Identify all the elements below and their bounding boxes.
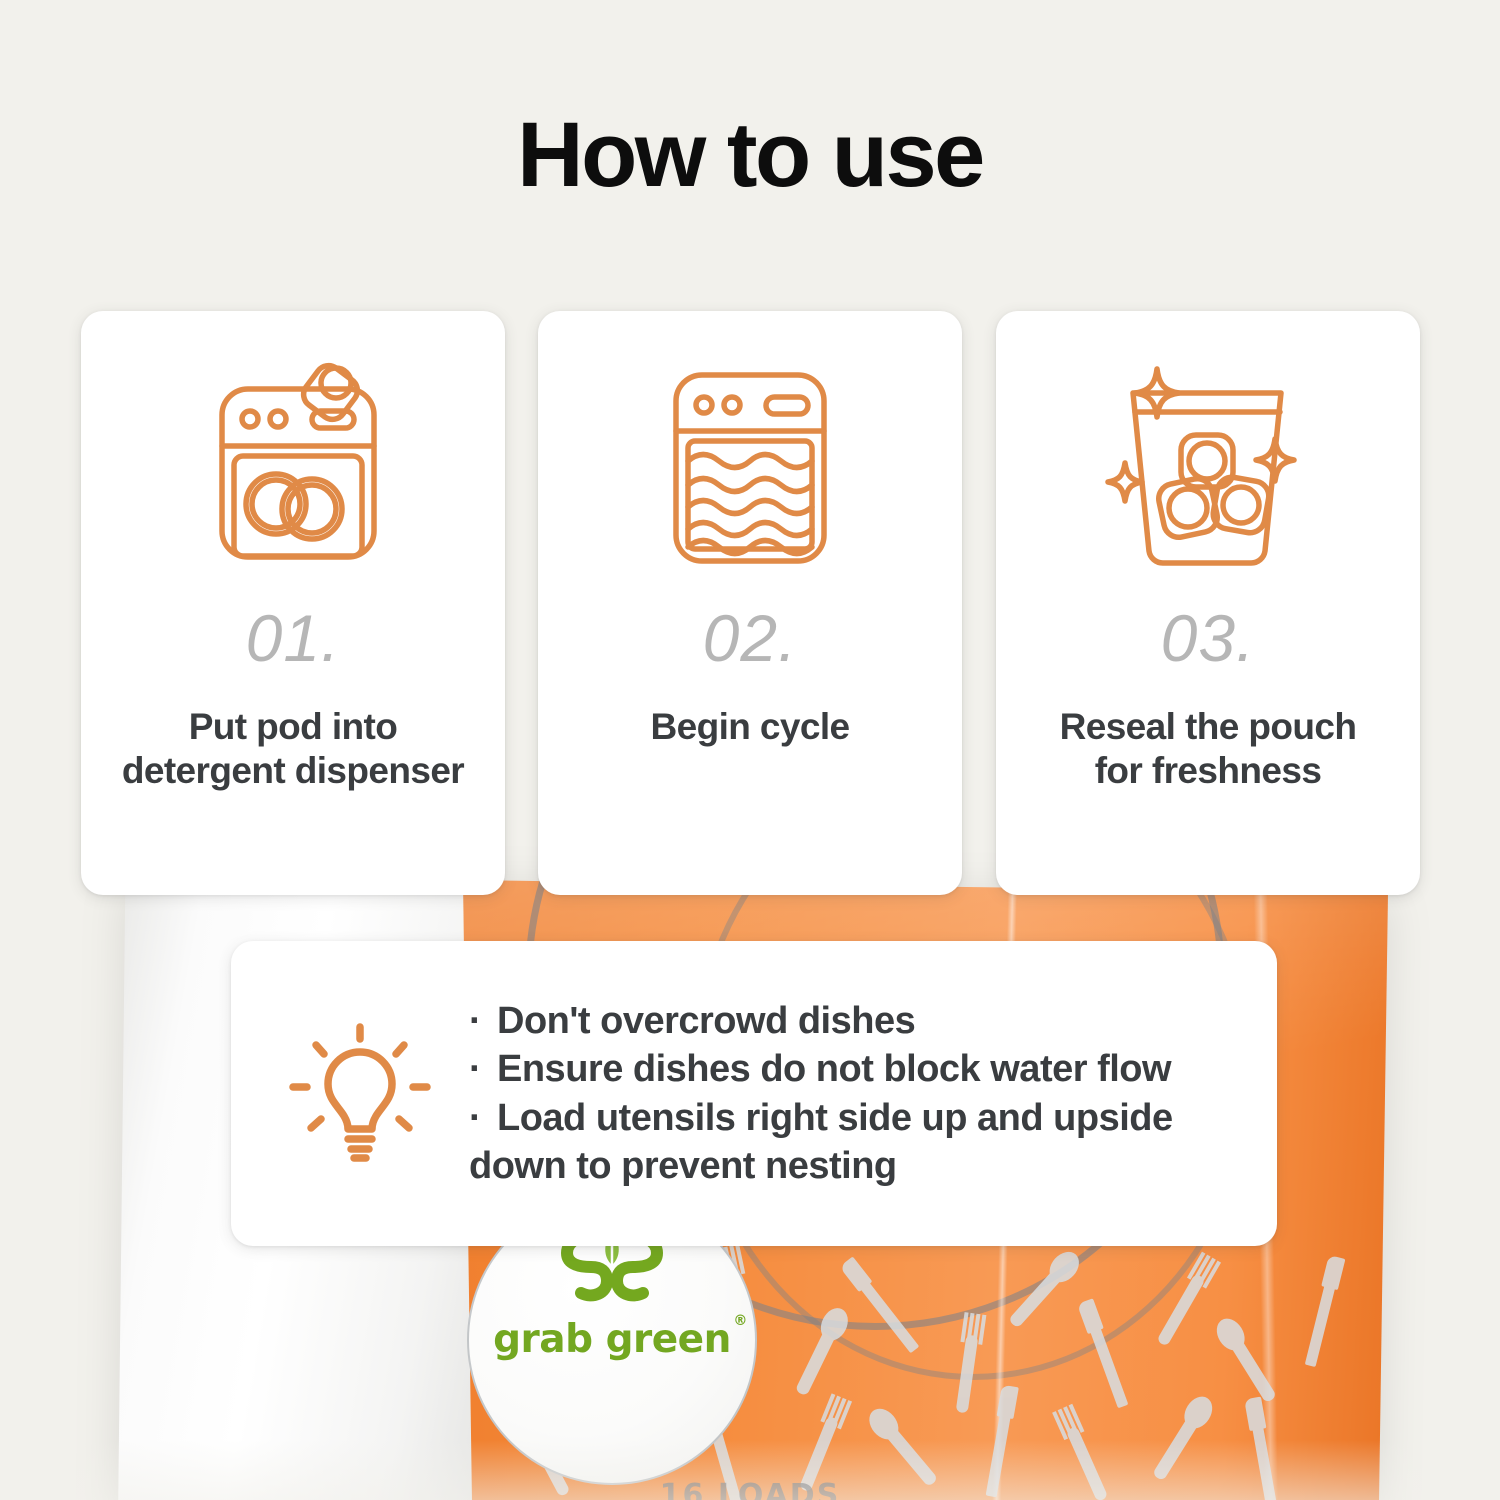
step-2-label: Begin cycle [538, 705, 962, 749]
step-1-icon-wrapper [81, 311, 505, 611]
tip-text: Don't overcrowd dishes [497, 997, 1249, 1045]
page-title: How to use [0, 103, 1500, 208]
step-1-number: 01. [246, 605, 341, 671]
lightbulb-icon [285, 1019, 435, 1169]
step-card-3[interactable]: 03. Reseal the pouch for freshness [996, 311, 1420, 895]
dishwasher-with-pod-icon [188, 353, 398, 583]
step-2-icon-wrapper [538, 311, 962, 611]
tips-icon-wrapper [255, 1019, 465, 1169]
step-1-label: Put pod into detergent dispenser [81, 705, 505, 792]
tip-item: · Load utensils right side up and upside [469, 1094, 1249, 1142]
step-3-label: Reseal the pouch for freshness [996, 705, 1420, 792]
tips-list: · Don't overcrowd dishes · Ensure dishes… [465, 997, 1249, 1189]
tip-item: · Don't overcrowd dishes [469, 997, 1249, 1045]
tip-item: · Ensure dishes do not block water flow [469, 1045, 1249, 1093]
step-card-1[interactable]: 01. Put pod into detergent dispenser [81, 311, 505, 895]
tip-text: Ensure dishes do not block water flow [497, 1045, 1249, 1093]
resealable-pouch-with-pods-icon [1103, 363, 1313, 573]
tip-bullet: · [469, 1094, 497, 1142]
step-3-icon-wrapper [996, 311, 1420, 611]
dishwasher-running-water-icon [650, 361, 850, 576]
tips-card[interactable]: · Don't overcrowd dishes · Ensure dishes… [231, 941, 1277, 1246]
tip-bullet: · [469, 997, 497, 1045]
tip-text: Load utensils right side up and upside [497, 1094, 1249, 1142]
tip-text: down to prevent nesting [469, 1142, 1249, 1190]
step-2-number: 02. [703, 605, 798, 671]
step-card-2[interactable]: 02. Begin cycle [538, 311, 962, 895]
tip-bullet: · [469, 1045, 497, 1093]
tip-item-continuation: down to prevent nesting [469, 1142, 1249, 1190]
step-3-number: 03. [1161, 605, 1256, 671]
